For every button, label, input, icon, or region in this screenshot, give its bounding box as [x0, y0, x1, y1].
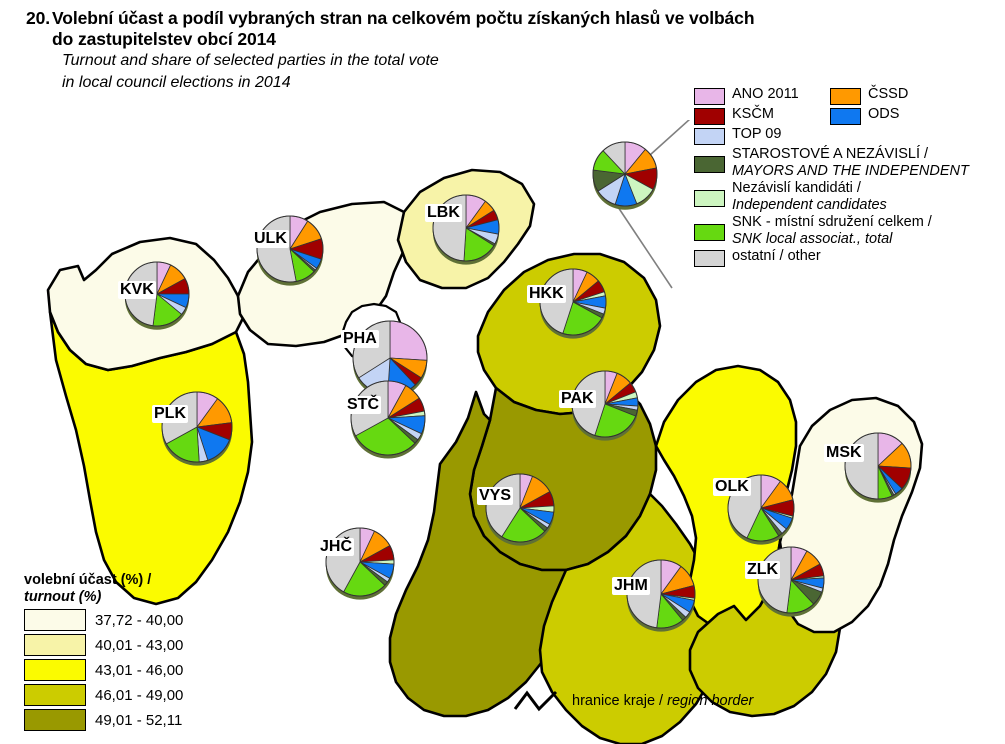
party-legend: ANO 2011 KSČM ČSSD ODS TOP 09	[694, 86, 1005, 268]
turnout-class-3-swatch	[24, 684, 86, 706]
turnout-legend: volební účast (%) / turnout (%) 37,72 - …	[24, 572, 239, 731]
border-legend-label-en: region border	[667, 693, 753, 709]
pie-chart-zlk	[758, 547, 824, 617]
turnout-class-4-label: 49,01 - 52,11	[95, 712, 182, 729]
legend-item-top09: TOP 09	[694, 126, 1005, 145]
independent-label-cs: Nezávislí kandidáti /	[732, 180, 861, 196]
legend-item-ano: ANO 2011	[694, 86, 830, 105]
region-label-olk: OLK	[713, 478, 751, 496]
legend-item-cssd: ČSSD	[830, 86, 908, 105]
region-label-kvk: KVK	[118, 281, 156, 299]
stan-label-cs: STAROSTOVÉ A NEZÁVISLÍ /	[732, 146, 928, 162]
top09-swatch	[694, 128, 725, 145]
region-label-vys: VYS	[477, 487, 513, 505]
kscm-swatch	[694, 108, 725, 125]
turnout-legend-heading-en: turnout (%)	[24, 589, 239, 606]
legend-item-independent: Nezávislí kandidáti / Independent candid…	[694, 180, 1005, 213]
pie-chart-reference	[593, 142, 657, 210]
snk-swatch	[694, 224, 725, 241]
region-label-plk: PLK	[152, 405, 188, 423]
pie-chart-stč	[351, 381, 425, 459]
turnout-legend-heading-cs: volební účast (%) /	[24, 572, 239, 589]
turnout-class-4: 49,01 - 52,11	[24, 709, 239, 731]
region-label-msk: MSK	[824, 444, 864, 462]
legend-item-stan: STAROSTOVÉ A NEZÁVISLÍ / MAYORS AND THE …	[694, 146, 1005, 179]
pie-chart-ulk	[257, 216, 323, 286]
region-label-jhm: JHM	[612, 577, 650, 595]
title-cs-2: do zastupitelstev obcí 2014	[26, 29, 986, 50]
top09-label: TOP 09	[732, 126, 781, 143]
turnout-class-3-label: 46,01 - 49,00	[95, 687, 183, 704]
legend-item-snk: SNK - místní sdružení celkem / SNK local…	[694, 214, 1005, 247]
region-label-stč: STČ	[345, 396, 381, 414]
legend-item-kscm: KSČM	[694, 106, 830, 125]
pie-chart-jhm	[627, 560, 695, 632]
turnout-class-4-swatch	[24, 709, 86, 731]
region-label-ulk: ULK	[252, 230, 289, 248]
region-label-lbk: LBK	[425, 204, 462, 222]
border-legend-label-cs: hranice kraje /	[572, 693, 663, 709]
turnout-class-1-label: 40,01 - 43,00	[95, 637, 183, 654]
stan-label-en: MAYORS AND THE INDEPENDENT	[732, 163, 969, 179]
region-label-zlk: ZLK	[745, 561, 780, 579]
region-label-jhč: JHČ	[318, 538, 354, 556]
turnout-class-0-label: 37,72 - 40,00	[95, 612, 183, 629]
other-swatch	[694, 250, 725, 267]
ano-label: ANO 2011	[732, 86, 799, 103]
title-en-1: Turnout and share of selected parties in…	[26, 50, 986, 72]
snk-label-en: SNK local associat., total	[732, 231, 892, 247]
turnout-class-2: 43,01 - 46,00	[24, 659, 239, 681]
border-legend-label: hranice kraje / region border	[572, 693, 753, 709]
turnout-class-1-swatch	[24, 634, 86, 656]
turnout-class-0: 37,72 - 40,00	[24, 609, 239, 631]
kscm-label: KSČM	[732, 106, 774, 123]
independent-swatch	[694, 190, 725, 207]
legend-item-ods: ODS	[830, 106, 908, 125]
snk-label-cs: SNK - místní sdružení celkem /	[732, 214, 932, 230]
region-border-icon	[512, 688, 564, 714]
independent-label-group: Nezávislí kandidáti / Independent candid…	[732, 180, 887, 213]
page-title: 20.Volební účast a podíl vybraných stran…	[26, 8, 986, 94]
title-number: 20.	[26, 8, 52, 29]
region-label-pak: PAK	[559, 390, 596, 408]
cssd-swatch	[830, 88, 861, 105]
turnout-class-0-swatch	[24, 609, 86, 631]
ods-swatch	[830, 108, 861, 125]
legend-item-other: ostatní / other	[694, 248, 1005, 267]
pie-chart-pha-slice-ano	[390, 321, 427, 360]
stan-swatch	[694, 156, 725, 173]
independent-label-en: Independent candidates	[732, 197, 887, 213]
title-line-1: 20.Volební účast a podíl vybraných stran…	[26, 8, 986, 29]
ods-label: ODS	[868, 106, 899, 123]
cssd-label: ČSSD	[868, 86, 908, 103]
turnout-class-1: 40,01 - 43,00	[24, 634, 239, 656]
border-legend: hranice kraje / region border	[512, 688, 753, 714]
region-label-pha: PHA	[341, 330, 379, 348]
pie-chart-plk	[162, 392, 232, 466]
pie-chart-vys	[486, 474, 554, 546]
ano-swatch	[694, 88, 725, 105]
turnout-class-2-label: 43,01 - 46,00	[95, 662, 183, 679]
stan-label-group: STAROSTOVÉ A NEZÁVISLÍ / MAYORS AND THE …	[732, 146, 969, 179]
title-cs-1: Volební účast a podíl vybraných stran na…	[52, 8, 754, 28]
other-label: ostatní / other	[732, 248, 821, 265]
turnout-class-2-swatch	[24, 659, 86, 681]
pie-chart-hkk	[540, 269, 606, 339]
turnout-class-3: 46,01 - 49,00	[24, 684, 239, 706]
region-label-hkk: HKK	[527, 285, 566, 303]
snk-label-group: SNK - místní sdružení celkem / SNK local…	[732, 214, 932, 247]
